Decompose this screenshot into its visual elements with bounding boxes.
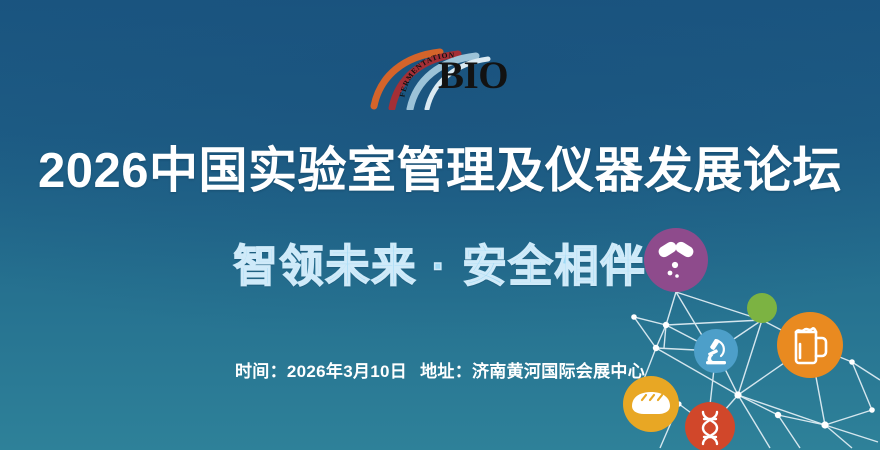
network-dot: [869, 407, 875, 413]
bread-loaf-icon: [632, 392, 670, 414]
event-banner: FERMENTATION BIO 2026中国实验室管理及仪器发展论坛 智领未来…: [0, 0, 880, 450]
subtitle-slogan: 智领未来 · 安全相伴: [0, 238, 880, 296]
bio-fermentation-logo: FERMENTATION BIO: [370, 48, 515, 110]
network-dot: [631, 314, 637, 320]
page-title: 2026中国实验室管理及仪器发展论坛: [0, 140, 880, 202]
bread-node-circle: [623, 376, 679, 432]
network-dot: [734, 391, 741, 398]
time-value: 2026年3月10日: [287, 362, 407, 381]
network-dot: [775, 412, 781, 418]
network-dot: [821, 421, 828, 428]
venue-label: 地址：: [420, 362, 472, 381]
plain-dot-icon: [747, 293, 777, 323]
logo-wordmark: BIO: [438, 54, 508, 97]
network-dot: [703, 339, 708, 344]
dna-node: [685, 402, 735, 450]
bread-node: [623, 376, 679, 432]
dna-helix-icon: [703, 412, 717, 444]
venue-value: 济南黄河国际会展中心: [472, 362, 645, 381]
network-dot: [676, 401, 681, 406]
network-dot: [653, 345, 659, 351]
green-node: [747, 293, 777, 323]
network-dot: [663, 322, 669, 328]
time-label: 时间：: [235, 362, 287, 381]
dna-node-circle: [685, 402, 735, 450]
event-info-line: 时间：2026年3月10日地址：济南黄河国际会展中心: [0, 357, 880, 382]
